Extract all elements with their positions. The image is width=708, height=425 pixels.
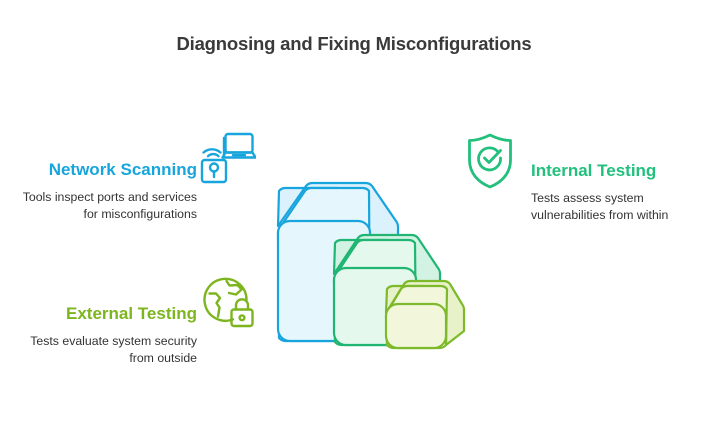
block-network-scanning: Network Scanning Tools inspect ports and… — [12, 160, 197, 224]
block-internal-testing: Internal Testing Tests assess system vul… — [531, 161, 696, 225]
page-title: Diagnosing and Fixing Misconfigurations — [0, 33, 708, 55]
block-external-testing-body: Tests evaluate system security from outs… — [12, 333, 197, 369]
infographic-canvas: Diagnosing and Fixing Misconfigurations … — [0, 0, 708, 425]
block-external-testing-heading: External Testing — [12, 304, 197, 324]
block-network-scanning-body: Tools inspect ports and services for mis… — [12, 189, 197, 225]
laptop-wifi-router-icon — [198, 131, 256, 185]
iso-layer-inner — [386, 281, 464, 348]
shield-check-icon — [464, 132, 516, 190]
block-network-scanning-heading: Network Scanning — [12, 160, 197, 180]
globe-lock-icon — [202, 276, 256, 328]
block-internal-testing-body: Tests assess system vulnerabilities from… — [531, 190, 696, 226]
layered-isometric-blocks — [266, 176, 466, 361]
block-internal-testing-heading: Internal Testing — [531, 161, 696, 181]
block-external-testing: External Testing Tests evaluate system s… — [12, 304, 197, 368]
